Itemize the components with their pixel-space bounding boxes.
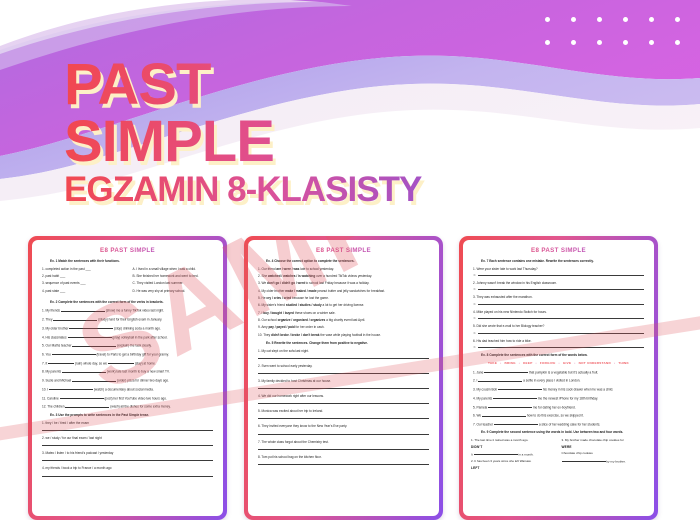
item-options[interactable]: pay / payed / paid bbox=[268, 325, 294, 329]
item-post: a selfie in every place I visited in Lon… bbox=[523, 379, 580, 383]
word-bank: TAKE• BRING• KEEP• FORGIVE• GIVE• NOT UN… bbox=[475, 361, 642, 365]
answer-line[interactable] bbox=[258, 373, 429, 374]
answer-line[interactable] bbox=[478, 304, 644, 305]
item-pre: Our Maths teacher bbox=[46, 344, 72, 348]
item-number: 7. bbox=[258, 311, 261, 315]
item-number: 3. bbox=[473, 387, 476, 391]
list-item: 4. We did our homework right after our l… bbox=[258, 394, 431, 399]
item-post: (post) her first YouTube video two hours… bbox=[104, 396, 166, 400]
list-item: 7. It (rain) whole day, so we (stay) at … bbox=[42, 360, 215, 366]
word-separator: • bbox=[519, 361, 520, 365]
item-pre: Our school bbox=[262, 318, 278, 322]
question-text: 2. It has been 3 years since she left Wa… bbox=[471, 459, 556, 463]
dot bbox=[623, 40, 628, 45]
answer-blank[interactable] bbox=[482, 412, 526, 416]
item-post: (rain) whole day, so we bbox=[75, 361, 107, 365]
list-item: 2. we / study / for our final exam / las… bbox=[42, 436, 215, 441]
worksheet-page-2[interactable]: E8 PAST SIMPLE Ex. 4 Choose the correct … bbox=[244, 236, 443, 520]
word-bank-item: BRING bbox=[505, 361, 516, 365]
item-number: 8. bbox=[258, 318, 261, 322]
worksheet-preview-row: E8 PAST SIMPLE Ex. 1 Match the sentences… bbox=[0, 236, 700, 520]
word-separator: • bbox=[559, 361, 560, 365]
list-item: 6. They invited everyone they know to th… bbox=[258, 424, 431, 429]
item-number: 6. bbox=[473, 414, 476, 418]
list-item: 2. I a selfie in every place I visited i… bbox=[473, 377, 646, 383]
answer-line[interactable] bbox=[478, 333, 644, 334]
item-pre: Suzie and Michael bbox=[46, 379, 72, 383]
dot bbox=[545, 40, 550, 45]
item-options[interactable]: organize / organized / organizes bbox=[278, 318, 326, 322]
exercise-4-instruction: Ex. 4 Choose the correct option to compl… bbox=[266, 259, 431, 264]
list-item: 6. We how to do this exercise, so we ski… bbox=[473, 412, 646, 418]
item-post: for her order in cash. bbox=[295, 325, 325, 329]
exercise-2-items: 1. My friends (show) me a funny TikTok v… bbox=[40, 307, 215, 409]
word-bank-item: KEEP bbox=[523, 361, 532, 365]
item-number: 1. bbox=[258, 267, 261, 271]
item-options[interactable]: make / maked / made bbox=[285, 289, 316, 293]
question-text: 1. The last time it rained was a month a… bbox=[471, 438, 556, 442]
list-item: 3. They was exhausted after the marathon… bbox=[473, 295, 646, 300]
item-pre: Caroline bbox=[47, 396, 59, 400]
list-item: 1. Jane that pumpkin is a vegetable but … bbox=[473, 369, 646, 375]
answer-pre: It bbox=[471, 452, 473, 456]
answer-blank[interactable] bbox=[48, 360, 74, 364]
item-pre: We bbox=[477, 414, 482, 418]
poster-canvas: PAST SIMPLE EGZAMIN 8-KLASISTY E8 PAST S… bbox=[0, 0, 700, 520]
item-post: (wash) all the dishes for some extra mon… bbox=[110, 405, 171, 409]
dot bbox=[649, 17, 654, 22]
list-item: 4. my friends / book a trip to France / … bbox=[42, 466, 215, 471]
exercise-1-columns: 1. completed action in the past ___ 2. p… bbox=[40, 267, 215, 296]
arrow-icon: ⇒ bbox=[473, 346, 476, 349]
answer-blank[interactable] bbox=[108, 360, 134, 364]
dot bbox=[545, 17, 550, 22]
dot bbox=[597, 40, 602, 45]
exercise-1-left-column: 1. completed action in the past ___ 2. p… bbox=[40, 267, 125, 296]
item-pre: My cousin Bob bbox=[477, 387, 498, 391]
item-post: the vase while playing football in the h… bbox=[320, 333, 381, 337]
item-number: 12. bbox=[42, 405, 46, 409]
answer-line[interactable] bbox=[258, 388, 429, 389]
item-pre: My parents bbox=[46, 370, 62, 374]
exercise-7-instruction: Ex. 7 Each sentence contains one mistake… bbox=[481, 259, 646, 264]
item-post: these shoes on a winter sale. bbox=[294, 311, 336, 315]
worksheet-page-2-paper: E8 PAST SIMPLE Ex. 4 Choose the correct … bbox=[248, 240, 439, 516]
item-pre: Pamela bbox=[477, 405, 488, 409]
question-text: 3. My brother made chocolate chip cookie… bbox=[562, 438, 647, 442]
item-post: over a hundred TikTok videos yesterday. bbox=[315, 274, 372, 278]
answer-blank[interactable] bbox=[62, 368, 106, 372]
arrow-icon: ⇒ bbox=[473, 274, 476, 277]
item-post-2: (stay) at home. bbox=[135, 361, 156, 365]
list-item: 8. Tom put his school bag on the kitchen… bbox=[258, 455, 431, 460]
dot bbox=[597, 17, 602, 22]
list-item: 7. I buy / bought / buyed these shoes on… bbox=[258, 311, 431, 316]
item-post: a big charity event last April. bbox=[325, 318, 365, 322]
list-item: 1. My cat slept on the sofa last night. bbox=[258, 349, 431, 354]
list-item: 9. Amy pay / payed / paid for her order … bbox=[258, 325, 431, 330]
dot-grid-decoration bbox=[545, 17, 690, 45]
rewrite-line[interactable]: ⇒ bbox=[473, 303, 644, 306]
word-bank-item: NOT UNDERSTAND bbox=[579, 361, 611, 365]
item-post: me for dating her ex-boyfriend. bbox=[533, 405, 576, 409]
arrow-icon: ⇒ bbox=[473, 303, 476, 306]
item-number: 4. bbox=[258, 289, 261, 293]
list-item: C. They visited London last summer. bbox=[133, 281, 216, 286]
exercise-1-right-column: A. I lived in a small village when I was… bbox=[131, 267, 216, 296]
answer-blank[interactable] bbox=[494, 421, 538, 425]
item-post: how to do this exercise, so we skipped i… bbox=[527, 414, 584, 418]
list-item: A. I lived in a small village when I was… bbox=[133, 267, 216, 272]
keyword: LEFT bbox=[471, 466, 556, 470]
list-item: 2. past habit ___ bbox=[42, 274, 125, 279]
item-number: 4. bbox=[473, 396, 476, 400]
list-item: D. He was very shy at primary school. bbox=[133, 289, 216, 294]
item-post: to school last Friday because it was a h… bbox=[305, 281, 370, 285]
list-item: 1. Our friend are / were / was late to s… bbox=[258, 267, 431, 272]
item-post: (explain) the task clearly. bbox=[117, 344, 152, 348]
list-item: 6. His dad teached him how to ride a bik… bbox=[473, 339, 646, 344]
list-item: 4. My parents me the newest iPhone for m… bbox=[473, 395, 646, 401]
answer-blank[interactable] bbox=[68, 334, 112, 338]
list-item: 4. Mike played on his new Nintendo Switc… bbox=[473, 310, 646, 315]
rewrite-line[interactable]: ⇒ bbox=[473, 332, 644, 335]
poster-title-block: PAST SIMPLE EGZAMIN 8-KLASISTY bbox=[64, 58, 534, 206]
rewrite-line[interactable]: ⇒ bbox=[473, 288, 644, 291]
list-item: 5. Pamela me for dating her ex-boyfriend… bbox=[473, 404, 646, 410]
answer-line[interactable] bbox=[478, 318, 644, 319]
answer-blank[interactable] bbox=[65, 403, 109, 407]
rewrite-line[interactable]: ⇒ bbox=[473, 317, 644, 320]
arrow-icon: ⇒ bbox=[473, 332, 476, 335]
item-post: peanut butter and jelly sandwiches for b… bbox=[317, 289, 385, 293]
worksheet-title: E8 PAST SIMPLE bbox=[471, 247, 646, 254]
title-line-simple: SIMPLE bbox=[64, 115, 534, 168]
list-item: 8. My parents (work) late last month to … bbox=[42, 368, 215, 374]
answer-line[interactable] bbox=[478, 275, 644, 276]
word-bank-item: TAKE bbox=[488, 361, 497, 365]
dot bbox=[649, 40, 654, 45]
list-item: 1. My friends (show) me a funny TikTok v… bbox=[42, 307, 215, 313]
dot bbox=[675, 17, 680, 22]
item-number: 10. bbox=[42, 387, 46, 391]
item-post: me the newest iPhone for my 18th birthda… bbox=[538, 396, 598, 400]
list-item: 6. My sister's friend studied / studies … bbox=[258, 303, 431, 308]
answer-line[interactable] bbox=[42, 430, 213, 431]
item-number: 8. bbox=[42, 370, 45, 374]
item-number: 2. bbox=[473, 379, 476, 383]
list-item: 4. His classmates (play) volleyball in t… bbox=[42, 334, 215, 340]
item-post: that pumpkin is a vegetable but it's act… bbox=[529, 370, 598, 374]
list-item: 1. they / be / tired / after the exam bbox=[42, 421, 215, 426]
answer-blank[interactable] bbox=[478, 377, 522, 381]
list-item: 3. We don't go / didn't go / went to sch… bbox=[258, 281, 431, 286]
word-bank-item: FORGIVE bbox=[540, 361, 556, 365]
answer-line[interactable] bbox=[258, 464, 429, 465]
item-number: 1. bbox=[42, 309, 45, 313]
exercise-8-items: 1. Jane that pumpkin is a vegetable but … bbox=[471, 369, 646, 427]
answer-blank[interactable] bbox=[498, 386, 542, 390]
answer-line[interactable] bbox=[258, 403, 429, 404]
list-item: 3. Mateo / listen / to his friend's podc… bbox=[42, 451, 215, 456]
item-pre: I bbox=[477, 379, 478, 383]
item-pre: Our friend bbox=[262, 267, 277, 271]
item-post: (show) me a funny TikTok video last nigh… bbox=[106, 309, 164, 313]
item-options[interactable]: didn't broke / broke / don't break bbox=[271, 333, 319, 337]
item-number: 6. bbox=[258, 303, 261, 307]
item-number: 3. bbox=[42, 326, 45, 330]
list-item: 5. Monica was excited about her trip to … bbox=[258, 409, 431, 414]
answer-row: by my brother. bbox=[562, 458, 647, 464]
item-pre: My parents bbox=[477, 396, 493, 400]
arrow-icon: ⇒ bbox=[473, 317, 476, 320]
exercise-8-instruction: Ex. 8 Complete the sentences with the co… bbox=[481, 353, 646, 358]
worksheet-title: E8 PAST SIMPLE bbox=[40, 247, 215, 254]
answer-row: It in a month. bbox=[471, 451, 556, 457]
item-post: (watch) a documentary about social media… bbox=[94, 387, 154, 391]
item-number: 1. bbox=[473, 370, 476, 374]
item-number: 7. bbox=[42, 361, 45, 365]
answer-blank[interactable] bbox=[488, 404, 532, 408]
item-number: 3. bbox=[258, 281, 261, 285]
answer-blank[interactable] bbox=[493, 395, 537, 399]
arrow-icon: ⇒ bbox=[473, 288, 476, 291]
list-item: 3. My family decided to host Christmas a… bbox=[258, 379, 431, 384]
worksheet-page-3-paper: E8 PAST SIMPLE Ex. 7 Each sentence conta… bbox=[463, 240, 654, 516]
dot bbox=[623, 17, 628, 22]
list-item: 7. Our teacher a slice of her wedding ca… bbox=[473, 421, 646, 427]
word-separator: • bbox=[614, 361, 615, 365]
list-item: 10. They didn't broke / broke / don't br… bbox=[258, 333, 431, 338]
answer-row: Chocolate chip cookies bbox=[562, 451, 647, 455]
list-item: 1. completed action in the past ___ bbox=[42, 267, 125, 272]
item-pre: The children bbox=[47, 405, 64, 409]
answer-line[interactable] bbox=[478, 347, 644, 348]
item-post: (work) late last month to buy a new smar… bbox=[107, 370, 170, 374]
item-number: 7. bbox=[473, 422, 476, 426]
item-post: a lot to get her driving license. bbox=[322, 303, 365, 307]
list-item: 5. Our Maths teacher (explain) the task … bbox=[42, 342, 215, 348]
answer-blank[interactable] bbox=[562, 458, 606, 462]
dot bbox=[571, 17, 576, 22]
item-number: 5. bbox=[42, 344, 45, 348]
answer-blank[interactable] bbox=[52, 351, 96, 355]
exercise-9-instruction: Ex. 9 Complete the second sentence using… bbox=[481, 430, 646, 435]
list-item: 7. The whole class forgot about the Chem… bbox=[258, 440, 431, 445]
answer-blank[interactable] bbox=[69, 325, 113, 329]
item-pre: I bbox=[47, 387, 48, 391]
answer-line[interactable] bbox=[42, 445, 213, 446]
list-item: 5. He cry / cries / cried because he los… bbox=[258, 296, 431, 301]
exercise-9-columns: 1. The last time it rained was a month a… bbox=[471, 438, 646, 473]
item-options[interactable]: are / were / was bbox=[276, 267, 299, 271]
list-item: 11. Caroline (post) her first YouTube vi… bbox=[42, 395, 215, 401]
item-post: a slice of her wedding cake for her stud… bbox=[539, 422, 600, 426]
answer-blank[interactable] bbox=[484, 369, 528, 373]
word-separator: • bbox=[574, 361, 575, 365]
item-pre: It bbox=[46, 361, 48, 365]
answer-blank[interactable] bbox=[49, 386, 93, 390]
item-pre: Our teacher bbox=[477, 422, 494, 426]
item-post: (travel) to Paris to get a birthday gift… bbox=[97, 352, 169, 356]
item-number: 9. bbox=[42, 379, 45, 383]
item-number: 10. bbox=[258, 333, 262, 337]
word-separator: • bbox=[500, 361, 501, 365]
worksheet-page-1[interactable]: E8 PAST SIMPLE Ex. 1 Match the sentences… bbox=[28, 236, 227, 520]
rewrite-line[interactable]: ⇒ bbox=[473, 346, 644, 349]
answer-blank[interactable] bbox=[72, 377, 116, 381]
answer-blank[interactable] bbox=[53, 316, 97, 320]
title-line-subtitle: EGZAMIN 8-KLASISTY bbox=[64, 174, 534, 206]
exercise-5-instruction: Ex. 5 Rewrite the sentences. Change them… bbox=[266, 341, 431, 346]
list-item: 2. She watched / watches / is watching o… bbox=[258, 274, 431, 279]
answer-blank[interactable] bbox=[474, 451, 518, 455]
answer-line[interactable] bbox=[42, 460, 213, 461]
exercise-3-instruction: Ex. 3 Use the prompts to write sentences… bbox=[50, 413, 215, 418]
item-options[interactable]: studied / studies / study bbox=[286, 303, 322, 307]
exercise-2-instruction: Ex. 2 Complete the sentences with the co… bbox=[50, 300, 215, 305]
exercise-7-items: 1. Were your sister late to work last Th… bbox=[471, 267, 646, 350]
answer-line[interactable] bbox=[258, 434, 429, 435]
item-post: late to school yesterday. bbox=[299, 267, 334, 271]
answer-pre: Chocolate chip cookies bbox=[562, 451, 593, 455]
answer-line[interactable] bbox=[478, 289, 644, 290]
answer-line[interactable] bbox=[42, 476, 213, 477]
exercise-5-items: 1. My cat slept on the sofa last night. … bbox=[256, 349, 431, 465]
dot bbox=[571, 40, 576, 45]
exercise-3-items: 1. they / be / tired / after the exam 2.… bbox=[40, 421, 215, 477]
item-post: because he lost the game. bbox=[291, 296, 329, 300]
answer-blank[interactable] bbox=[61, 307, 105, 311]
item-pre: Jane bbox=[477, 370, 484, 374]
item-options[interactable]: buy / bought / buyed bbox=[263, 311, 294, 315]
answer-post: by my brother. bbox=[606, 459, 625, 463]
dot bbox=[675, 40, 680, 45]
exercise-9-right-column: 3. My brother made chocolate chip cookie… bbox=[562, 438, 647, 473]
item-pre: My older brother bbox=[262, 289, 286, 293]
item-options[interactable]: cry / cries / cried bbox=[266, 296, 291, 300]
answer-line[interactable] bbox=[258, 449, 429, 450]
list-item: 4. My older brother make / maked / made … bbox=[258, 289, 431, 294]
worksheet-page-1-paper: E8 PAST SIMPLE Ex. 1 Match the sentences… bbox=[32, 240, 223, 516]
item-pre: They bbox=[263, 333, 271, 337]
item-number: 5. bbox=[473, 405, 476, 409]
item-post: (play) volleyball in the park after scho… bbox=[112, 335, 167, 339]
answer-blank[interactable] bbox=[72, 342, 116, 346]
list-item: 3. sequence of past events ___ bbox=[42, 281, 125, 286]
list-item: 3. My cousin Bob his money in his sock d… bbox=[473, 386, 646, 392]
list-item: 8. Our school organize / organized / org… bbox=[258, 318, 431, 323]
list-item: 4. past state ___ bbox=[42, 289, 125, 294]
word-bank-item: THINK bbox=[618, 361, 629, 365]
item-options[interactable]: watched / watches / is watching bbox=[268, 274, 315, 278]
exercise-4-items: 1. Our friend are / were / was late to s… bbox=[256, 267, 431, 338]
item-pre: They bbox=[45, 318, 52, 322]
item-options[interactable]: don't go / didn't go / went bbox=[267, 281, 305, 285]
item-post: (study) hard for their English exam in J… bbox=[98, 318, 162, 322]
list-item: 3. My older brother (stop) drinking soda… bbox=[42, 325, 215, 331]
item-pre: My older brother bbox=[46, 326, 69, 330]
rewrite-line[interactable]: ⇒ bbox=[473, 274, 644, 277]
exercise-1-instruction: Ex. 1 Match the sentences with their fun… bbox=[50, 259, 215, 264]
list-item: 2. Sven went to school early yesterday. bbox=[258, 364, 431, 369]
list-item: 5. Did she wrote that e-mail to her Biol… bbox=[473, 324, 646, 329]
item-number: 2. bbox=[258, 274, 261, 278]
exercise-9-left-column: 1. The last time it rained was a month a… bbox=[471, 438, 556, 473]
answer-post: in a month. bbox=[518, 452, 533, 456]
answer-line[interactable] bbox=[258, 418, 429, 419]
keyword: WERE bbox=[562, 445, 647, 449]
word-separator: • bbox=[536, 361, 537, 365]
list-item: 2. Johnny wasn't break the window in his… bbox=[473, 281, 646, 286]
list-item: 12. The children (wash) all the dishes f… bbox=[42, 403, 215, 409]
item-number: 11. bbox=[42, 396, 46, 400]
list-item: 1. Were your sister late to work last Th… bbox=[473, 267, 646, 272]
worksheet-page-3[interactable]: E8 PAST SIMPLE Ex. 7 Each sentence conta… bbox=[459, 236, 658, 520]
item-post: (stop) drinking soda a month ago. bbox=[114, 326, 161, 330]
worksheet-title: E8 PAST SIMPLE bbox=[256, 247, 431, 254]
list-item: 9. Suzie and Michael (order) pizza for d… bbox=[42, 377, 215, 383]
item-post: his money in his sock drawer when he was… bbox=[543, 387, 613, 391]
list-item: 6. You (travel) to Paris to get a birthd… bbox=[42, 351, 215, 357]
item-pre: You bbox=[45, 352, 50, 356]
answer-blank[interactable] bbox=[60, 395, 104, 399]
item-number: 4. bbox=[42, 335, 45, 339]
keyword: DIDN'T bbox=[471, 445, 556, 449]
item-pre: His classmates bbox=[46, 335, 67, 339]
word-bank-item: GIVE bbox=[563, 361, 571, 365]
title-line-past: PAST bbox=[64, 58, 534, 111]
item-pre: My sister's friend bbox=[262, 303, 286, 307]
list-item: 10. I (watch) a documentary about social… bbox=[42, 386, 215, 392]
item-post: (order) pizza for dinner two days ago. bbox=[117, 379, 169, 383]
item-pre: My friends bbox=[46, 309, 61, 313]
item-number: 5. bbox=[258, 296, 261, 300]
list-item: 2. They (study) hard for their English e… bbox=[42, 316, 215, 322]
list-item: B. She finished her homework and went to… bbox=[133, 274, 216, 279]
answer-line[interactable] bbox=[258, 358, 429, 359]
